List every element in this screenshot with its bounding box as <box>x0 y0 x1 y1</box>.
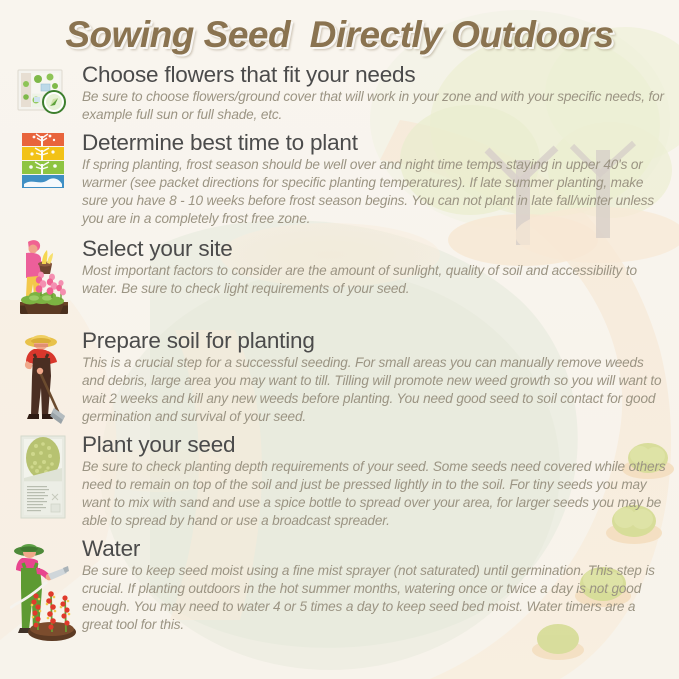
step-description: If spring planting, frost season should … <box>82 156 667 228</box>
step-title: Choose flowers that fit your needs <box>82 62 667 87</box>
seed-packet-icon <box>10 432 76 520</box>
step-description: Be sure to choose flowers/ground cover t… <box>82 88 667 124</box>
garden-plan-map-icon <box>10 62 76 122</box>
step-text: Select your site Most important factors … <box>76 236 667 298</box>
step-title: Select your site <box>82 236 667 261</box>
step-item: Plant your seed Be sure to check plantin… <box>0 432 679 530</box>
step-item: Select your site Most important factors … <box>0 236 679 320</box>
gardener-with-shovel-icon <box>10 328 76 426</box>
step-item: Determine best time to plant If spring p… <box>0 130 679 228</box>
poster-title-container: Sowing Seed Directly Outdoors <box>0 14 679 56</box>
gardener-planting-flowerbed-icon <box>10 236 76 320</box>
step-item: Water Be sure to keep seed moist using a… <box>0 536 679 642</box>
step-title: Prepare soil for planting <box>82 328 667 353</box>
step-text: Determine best time to plant If spring p… <box>76 130 667 228</box>
step-item: Prepare soil for planting This is a cruc… <box>0 328 679 426</box>
step-text: Water Be sure to keep seed moist using a… <box>76 536 667 634</box>
step-description: Be sure to keep seed moist using a fine … <box>82 562 667 634</box>
step-description: This is a crucial step for a successful … <box>82 354 667 426</box>
step-text: Plant your seed Be sure to check plantin… <box>76 432 667 530</box>
infographic-poster: Sowing Seed Directly Outdoors <box>0 0 679 679</box>
gardener-watering-icon <box>10 536 76 642</box>
step-text: Choose flowers that fit your needs Be su… <box>76 62 667 124</box>
step-title: Water <box>82 536 667 561</box>
step-title: Plant your seed <box>82 432 667 457</box>
steps-list: Choose flowers that fit your needs Be su… <box>0 62 679 644</box>
step-description: Be sure to check planting depth requirem… <box>82 458 667 530</box>
page-title: Sowing Seed Directly Outdoors <box>65 14 613 56</box>
four-seasons-icon <box>10 130 76 194</box>
step-description: Most important factors to consider are t… <box>82 262 667 298</box>
step-text: Prepare soil for planting This is a cruc… <box>76 328 667 426</box>
step-title: Determine best time to plant <box>82 130 667 155</box>
step-item: Choose flowers that fit your needs Be su… <box>0 62 679 124</box>
